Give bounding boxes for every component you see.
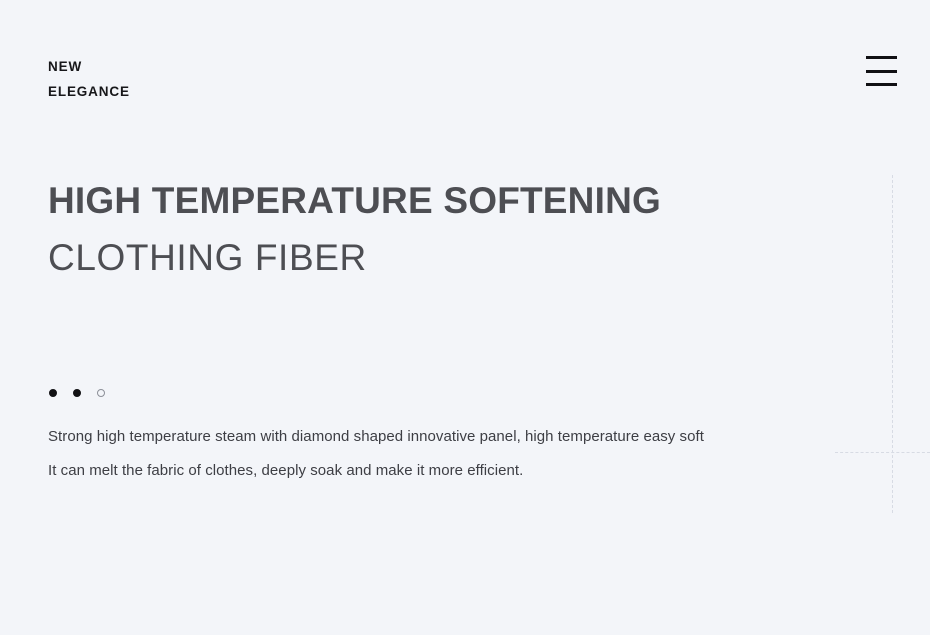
carousel-dot-3[interactable] — [97, 389, 105, 397]
hamburger-bar-bottom — [866, 83, 897, 86]
brand-logo-line-1: NEW — [48, 60, 130, 74]
hero-description: Strong high temperature steam with diamo… — [48, 420, 838, 488]
page-title: HIGH TEMPERATURE SOFTENING CLOTHING FIBE… — [48, 172, 848, 286]
hamburger-bar-middle — [866, 70, 897, 73]
carousel-dot-2[interactable] — [73, 389, 81, 397]
decorative-dashed-vertical-line — [892, 175, 893, 513]
hero-description-line-2: It can melt the fabric of clothes, deepl… — [48, 454, 838, 488]
site-header: NEW ELEGANCE — [0, 0, 930, 140]
carousel-dot-1[interactable] — [49, 389, 57, 397]
hamburger-menu-icon[interactable] — [866, 56, 897, 86]
hero-section: HIGH TEMPERATURE SOFTENING CLOTHING FIBE… — [48, 172, 848, 286]
decorative-dashed-horizontal-line — [835, 452, 930, 453]
brand-logo[interactable]: NEW ELEGANCE — [48, 60, 130, 98]
hamburger-bar-top — [866, 56, 897, 59]
brand-logo-line-2: ELEGANCE — [48, 85, 130, 99]
page-root: NEW ELEGANCE HIGH TEMPERATURE SOFTENING … — [0, 0, 930, 635]
hero-description-line-1: Strong high temperature steam with diamo… — [48, 420, 838, 454]
page-title-line-1: HIGH TEMPERATURE SOFTENING — [48, 172, 848, 229]
page-title-line-2: CLOTHING FIBER — [48, 229, 848, 286]
carousel-dots[interactable] — [49, 389, 105, 397]
